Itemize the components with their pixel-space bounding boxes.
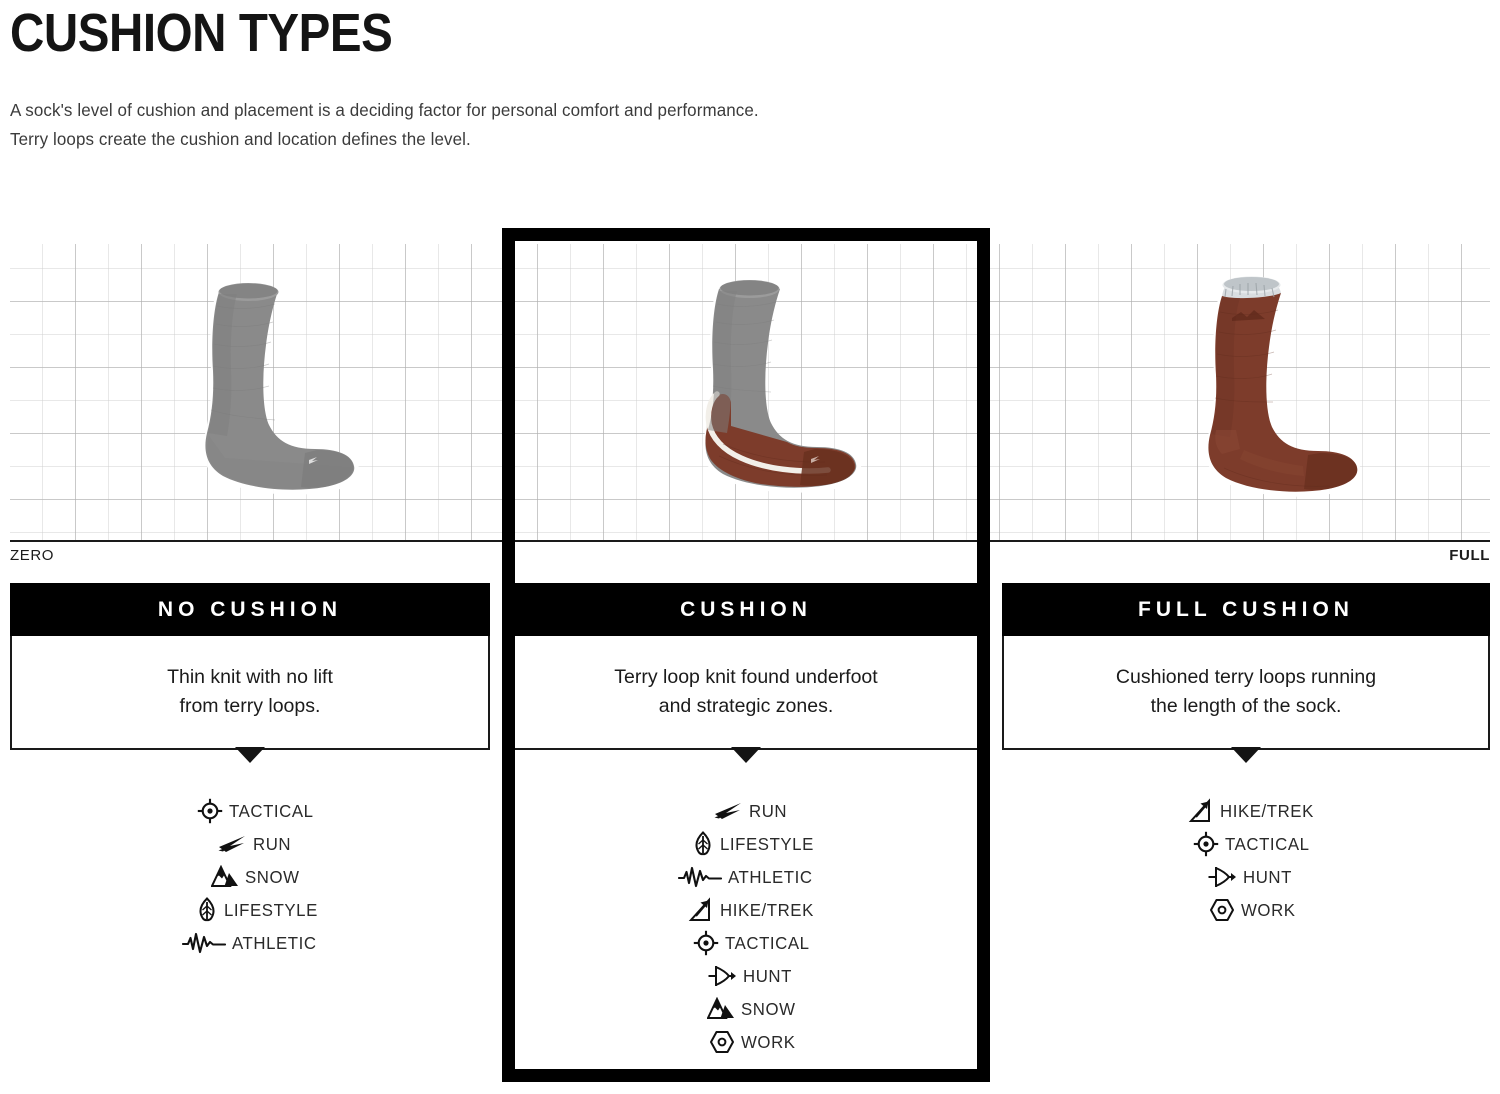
activity-item-lifestyle[interactable]: LIFESTYLE	[178, 893, 322, 926]
intro-line-1: A sock's level of cushion and placement …	[10, 96, 1446, 125]
hunt-icon	[1197, 862, 1243, 892]
work-icon	[1195, 895, 1241, 925]
no-cushion-sock	[165, 244, 375, 540]
hike-trek-icon	[674, 895, 720, 925]
lifestyle-icon	[178, 895, 224, 925]
scale-label-zero: ZERO	[10, 546, 54, 566]
description-line-2: the length of the sock.	[1151, 695, 1342, 717]
activity-label: LIFESTYLE	[720, 834, 814, 854]
activity-item-lifestyle[interactable]: LIFESTYLE	[674, 827, 818, 860]
athletic-icon	[180, 928, 232, 958]
activity-label: LIFESTYLE	[224, 900, 318, 920]
activity-label: ATHLETIC	[232, 933, 317, 953]
page-title: CUSHION TYPES	[10, 4, 1312, 62]
activity-item-tactical[interactable]: TACTICAL	[183, 794, 317, 827]
activity-label: HIKE/TREK	[1220, 801, 1314, 821]
activity-label: SNOW	[741, 999, 796, 1019]
activity-label: HUNT	[1243, 867, 1292, 887]
down-arrow-icon	[1231, 747, 1261, 763]
cushion-scale-grid	[10, 244, 1490, 540]
description-line-2: and strategic zones.	[659, 695, 834, 717]
down-arrow-icon	[731, 747, 761, 763]
activity-item-hike-trek[interactable]: HIKE/TREK	[674, 893, 818, 926]
column-description-cushion: Terry loop knit found underfoot and stra…	[512, 636, 980, 750]
activity-label: TACTICAL	[725, 933, 810, 953]
activity-label: ATHLETIC	[728, 867, 813, 887]
down-arrow-icon	[235, 747, 265, 763]
activity-item-snow[interactable]: SNOW	[199, 860, 302, 893]
activity-label: WORK	[1241, 900, 1296, 920]
description-line-1: Cushioned terry loops running	[1116, 666, 1376, 688]
activity-list-no-cushion: TACTICAL RUN SNOW	[10, 794, 490, 959]
activity-item-run[interactable]: RUN	[207, 827, 293, 860]
description-line-2: from terry loops.	[180, 695, 321, 717]
column-description-no-cushion: Thin knit with no lift from terry loops.	[10, 636, 490, 750]
activity-list-full-cushion: HIKE/TREK TACTICAL	[1002, 794, 1490, 926]
scale-label-full: FULL	[1449, 546, 1490, 566]
intro-line-2: Terry loops create the cushion and locat…	[10, 125, 1446, 154]
column-description-full-cushion: Cushioned terry loops running the length…	[1002, 636, 1490, 750]
description-line-1: Thin knit with no lift	[167, 666, 333, 688]
column-header-full-cushion: FULL CUSHION	[1002, 583, 1490, 636]
hunt-icon	[697, 961, 743, 991]
intro-paragraph: A sock's level of cushion and placement …	[10, 96, 1490, 154]
column-no-cushion: NO CUSHION Thin knit with no lift from t…	[10, 583, 490, 959]
column-header-no-cushion: NO CUSHION	[10, 583, 490, 636]
hike-trek-icon	[1174, 796, 1220, 826]
column-cushion: CUSHION Terry loop knit found underfoot …	[512, 583, 980, 1058]
athletic-icon	[676, 862, 728, 892]
scale-baseline	[10, 540, 1490, 542]
page-header: CUSHION TYPES A sock's level of cushion …	[10, 0, 1490, 154]
column-header-cushion: CUSHION	[512, 583, 980, 636]
activity-item-work[interactable]: WORK	[695, 1025, 798, 1058]
activity-label: SNOW	[245, 867, 300, 887]
activity-label: RUN	[253, 834, 291, 854]
activity-label: WORK	[741, 1032, 796, 1052]
activity-item-hunt[interactable]: HUNT	[697, 959, 794, 992]
lifestyle-icon	[674, 829, 720, 859]
activity-item-tactical[interactable]: TACTICAL	[1179, 827, 1313, 860]
tactical-icon	[1179, 829, 1225, 859]
column-full-cushion: FULL CUSHION Cushioned terry loops runni…	[1002, 583, 1490, 926]
activity-label: HIKE/TREK	[720, 900, 814, 920]
snow-icon	[199, 862, 245, 892]
activity-item-hunt[interactable]: HUNT	[1197, 860, 1294, 893]
activity-item-snow[interactable]: SNOW	[695, 992, 798, 1025]
run-icon	[703, 796, 749, 826]
activity-label: TACTICAL	[1225, 834, 1310, 854]
activity-item-athletic[interactable]: ATHLETIC	[676, 860, 816, 893]
activity-item-athletic[interactable]: ATHLETIC	[180, 926, 320, 959]
full-cushion-sock	[1170, 244, 1380, 540]
activity-label: HUNT	[743, 966, 792, 986]
cushion-sock	[665, 244, 880, 540]
work-icon	[695, 1027, 741, 1057]
activity-label: TACTICAL	[229, 801, 314, 821]
activity-item-tactical[interactable]: TACTICAL	[679, 926, 813, 959]
snow-icon	[695, 994, 741, 1024]
description-line-1: Terry loop knit found underfoot	[614, 666, 877, 688]
activity-list-cushion: RUN LIFESTYLE ATHLETIC	[512, 794, 980, 1058]
activity-item-run[interactable]: RUN	[703, 794, 789, 827]
tactical-icon	[183, 796, 229, 826]
run-icon	[207, 829, 253, 859]
activity-item-hike-trek[interactable]: HIKE/TREK	[1174, 794, 1318, 827]
tactical-icon	[679, 928, 725, 958]
activity-label: RUN	[749, 801, 787, 821]
activity-item-work[interactable]: WORK	[1195, 893, 1298, 926]
